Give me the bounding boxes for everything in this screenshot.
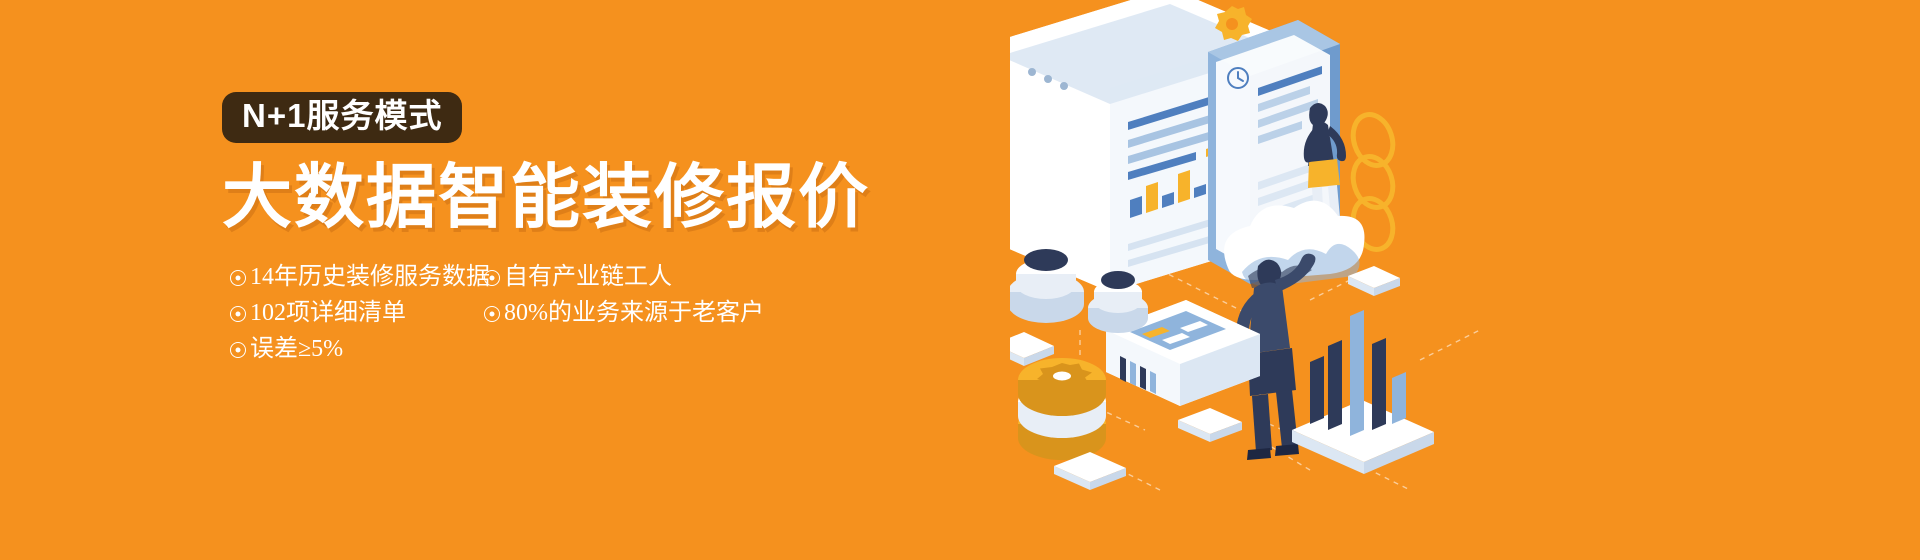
promo-banner: N+1服务模式 大数据智能装修报价 14年历史装修服务数据 102项详细清单 误…: [0, 0, 1920, 560]
bullet-label: 102项详细清单: [250, 300, 406, 326]
feature-bullet-list: 14年历史装修服务数据 102项详细清单 误差≥5% 自有产业链工人 80%的业…: [222, 259, 962, 369]
bullet-item: 80%的业务来源于老客户: [484, 295, 764, 331]
isometric-big-data-scene: [1010, 0, 1920, 560]
floating-plate: [1178, 408, 1242, 442]
circled-dot-icon: [484, 306, 500, 322]
circled-dot-icon: [484, 270, 500, 286]
bullet-item: 14年历史装修服务数据: [230, 259, 490, 295]
circled-dot-icon: [230, 270, 246, 286]
bullet-label: 误差≥5%: [250, 336, 343, 362]
bullet-label: 80%的业务来源于老客户: [504, 300, 764, 326]
bullet-item: 自有产业链工人: [484, 259, 764, 295]
bullet-item: 102项详细清单: [230, 295, 490, 331]
bullet-label: 自有产业链工人: [504, 264, 672, 290]
bullet-item: 误差≥5%: [230, 331, 490, 367]
banner-text-block: N+1服务模式 大数据智能装修报价 14年历史装修服务数据 102项详细清单 误…: [222, 92, 962, 369]
service-mode-badge: N+1服务模式: [222, 92, 462, 143]
circled-dot-icon: [230, 306, 246, 322]
bullet-column-left: 14年历史装修服务数据 102项详细清单 误差≥5%: [230, 259, 490, 367]
bar-chart-podium: [1292, 310, 1434, 474]
bullet-label: 14年历史装修服务数据: [250, 264, 490, 290]
illustration-area: [1010, 0, 1920, 560]
circled-dot-icon: [230, 342, 246, 358]
bullet-column-right: 自有产业链工人 80%的业务来源于老客户: [484, 259, 764, 331]
banner-headline: 大数据智能装修报价: [222, 162, 962, 233]
